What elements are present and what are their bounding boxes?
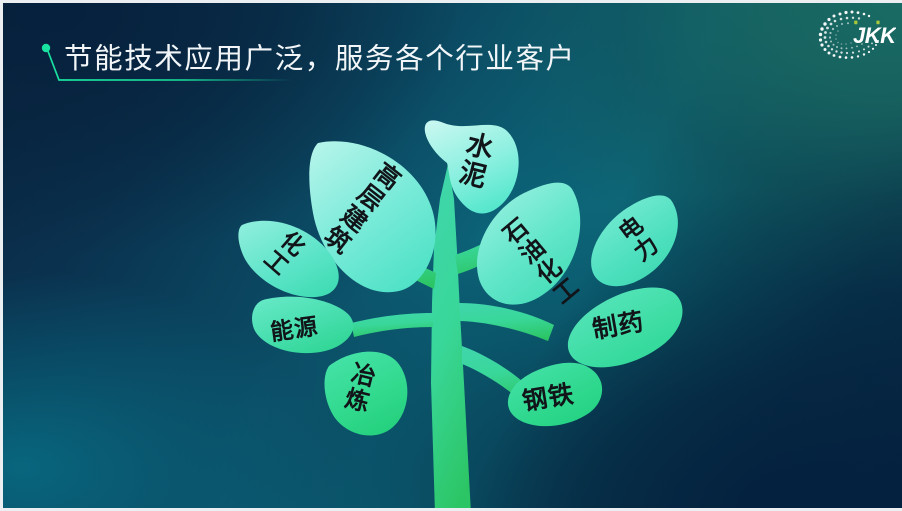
- title-accent-dot: [42, 44, 50, 52]
- slide-canvas: JKKJ 节能技术应用广泛，服务各个行业客户: [0, 0, 902, 511]
- page-title: 节能技术应用广泛，服务各个行业客户: [64, 39, 576, 79]
- leaf-label-energy: 能源: [268, 307, 320, 347]
- logo-wordmark: JKKJ: [853, 23, 896, 48]
- company-logo: JKKJ: [810, 5, 896, 67]
